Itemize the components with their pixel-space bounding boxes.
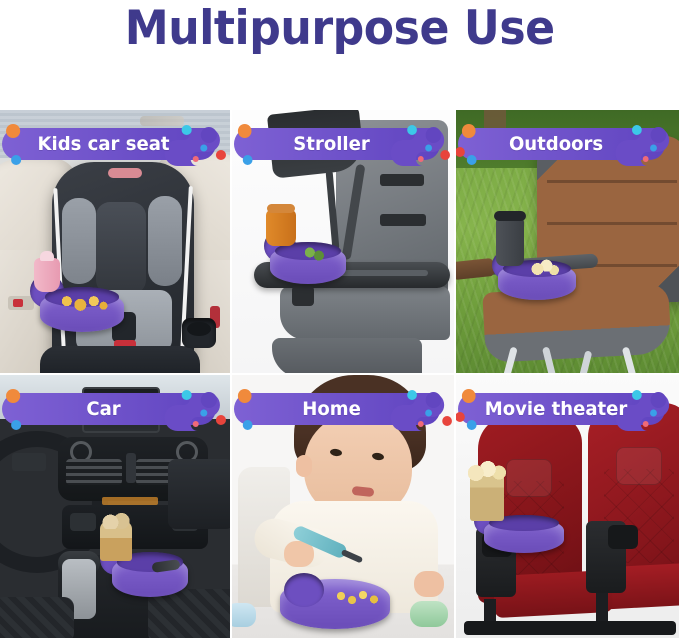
scenario-cell-movie-theater[interactable]: Movie theater — [454, 375, 679, 638]
badge-label: Movie theater — [463, 387, 669, 431]
badge-stroller[interactable]: Stroller — [234, 122, 450, 166]
page-title-text: Multipurpose Use — [125, 2, 555, 56]
snack-corn — [332, 587, 382, 607]
seatbelt-buckle — [8, 296, 34, 310]
car-seat-headwing-right — [148, 196, 182, 286]
badge-movie-theater[interactable]: Movie theater — [458, 387, 675, 431]
scenario-cell-outdoors[interactable]: Outdoors — [454, 110, 679, 373]
purple-snack-tray — [484, 517, 564, 553]
toddler-ear — [296, 455, 312, 477]
badge-car[interactable]: Car — [2, 387, 226, 431]
badge-kids-car-seat[interactable]: Kids car seat — [2, 122, 226, 166]
car-seat-top-handle — [108, 168, 142, 178]
car-seat-chest-pad — [96, 202, 146, 294]
badge-label: Stroller — [239, 122, 444, 166]
front-seat-left — [0, 597, 74, 638]
popcorn-bucket — [470, 473, 504, 521]
tray-cup-holder — [284, 573, 324, 607]
multipurpose-use-infographic: Multipurpose Use — [0, 0, 679, 638]
passenger-door-panel — [168, 459, 230, 529]
scenario-cell-kids-car-seat[interactable]: Kids car seat — [0, 110, 230, 373]
cup-holder-opening — [187, 322, 211, 336]
orange-snack-cup — [266, 210, 296, 246]
car-seat-headwing-left — [62, 198, 96, 284]
scenario-grid: Kids car seat — [0, 110, 679, 638]
car-seat-base — [40, 346, 200, 373]
theater-cup-holder-right — [608, 525, 638, 549]
badge-label: Home — [239, 387, 444, 431]
snack-popcorn — [530, 258, 560, 280]
badge-home[interactable]: Home — [234, 387, 450, 431]
toy-right — [410, 601, 448, 627]
hazard-switch — [126, 453, 136, 483]
snack-chips — [56, 294, 110, 312]
badge-label: Outdoors — [463, 122, 669, 166]
page-title: Multipurpose Use — [0, 0, 679, 98]
ice-cream-cone — [100, 521, 132, 561]
badge-label: Car — [8, 387, 221, 431]
snack-vegetables — [302, 246, 328, 262]
car-seat-cup-holder — [182, 318, 216, 348]
scenario-cell-stroller[interactable]: Stroller — [230, 110, 454, 373]
scenario-cell-home[interactable]: Home — [230, 375, 454, 638]
purple-snack-tray — [112, 555, 188, 597]
lumbar-panel-left — [506, 459, 552, 497]
child-car-seat — [52, 162, 194, 373]
toddler-hand-right — [414, 571, 444, 597]
climate-display — [102, 497, 158, 505]
climate-dial-left — [70, 513, 96, 531]
scenario-cell-car[interactable]: Car — [0, 375, 230, 638]
sippy-cup — [34, 258, 60, 292]
badge-outdoors[interactable]: Outdoors — [458, 122, 675, 166]
purple-snack-tray — [40, 290, 124, 332]
purple-snack-tray — [498, 262, 576, 300]
stroller-strap-lower — [380, 214, 426, 226]
stroller-strap-upper — [380, 174, 424, 186]
coffee-cup — [496, 218, 524, 266]
toy-left — [230, 603, 256, 627]
lumbar-panel-right — [616, 447, 662, 485]
air-vent-left — [66, 459, 122, 485]
stroller-leg-rest — [272, 338, 422, 373]
purple-snack-tray — [280, 579, 390, 629]
steering-wheel-buttons — [12, 453, 46, 471]
badge-label: Kids car seat — [8, 122, 221, 166]
floor-rail — [464, 621, 676, 635]
purple-snack-tray — [270, 244, 346, 284]
stroller-buckle — [292, 286, 314, 306]
